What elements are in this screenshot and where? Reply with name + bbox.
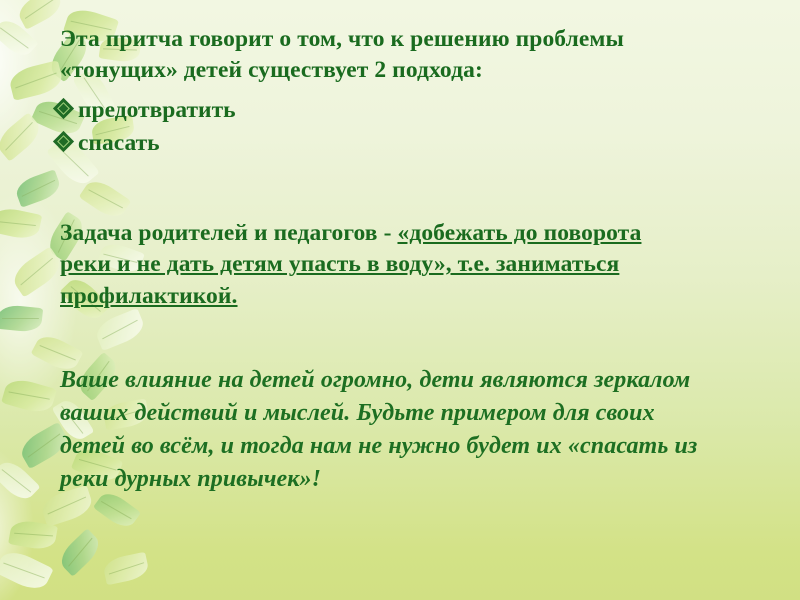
leaf-icon — [8, 518, 58, 552]
leaf-icon — [0, 304, 43, 333]
list-item: предотвратить — [60, 94, 760, 127]
leaf-icon — [102, 552, 150, 586]
approaches-list: предотвратить спасать — [60, 94, 760, 161]
leaf-icon — [0, 456, 41, 505]
list-item-label: спасать — [78, 130, 160, 156]
diamond-bullet-icon — [53, 97, 74, 118]
leaf-icon — [13, 169, 63, 208]
leaf-icon — [1, 376, 57, 417]
diamond-bullet-icon — [53, 131, 74, 152]
list-item-label: предотвратить — [78, 97, 236, 123]
closing-paragraph: Ваше влияние на детей огромно, дети явля… — [60, 364, 700, 496]
intro-paragraph: Эта притча говорит о том, что к решению … — [60, 24, 680, 87]
task-paragraph-block: Задача родителей и педагогов - «добежать… — [60, 218, 670, 312]
leaf-icon — [0, 112, 45, 161]
leaf-icon — [0, 15, 39, 61]
list-item: спасать — [60, 127, 760, 160]
task-paragraph: Задача родителей и педагогов - «добежать… — [60, 218, 670, 312]
leaf-icon — [0, 205, 42, 241]
closing-paragraph-block: Ваше влияние на детей огромно, дети явля… — [60, 364, 700, 496]
slide-content: Эта притча говорит о том, что к решению … — [60, 24, 760, 496]
leaf-icon — [7, 60, 64, 101]
leaf-icon — [8, 246, 65, 297]
leaf-icon — [15, 0, 66, 30]
task-lead-text: Задача родителей и педагогов - — [60, 220, 397, 246]
slide-canvas: Эта притча говорит о том, что к решению … — [0, 0, 800, 600]
leaf-icon — [55, 528, 104, 577]
leaf-icon — [0, 546, 54, 595]
